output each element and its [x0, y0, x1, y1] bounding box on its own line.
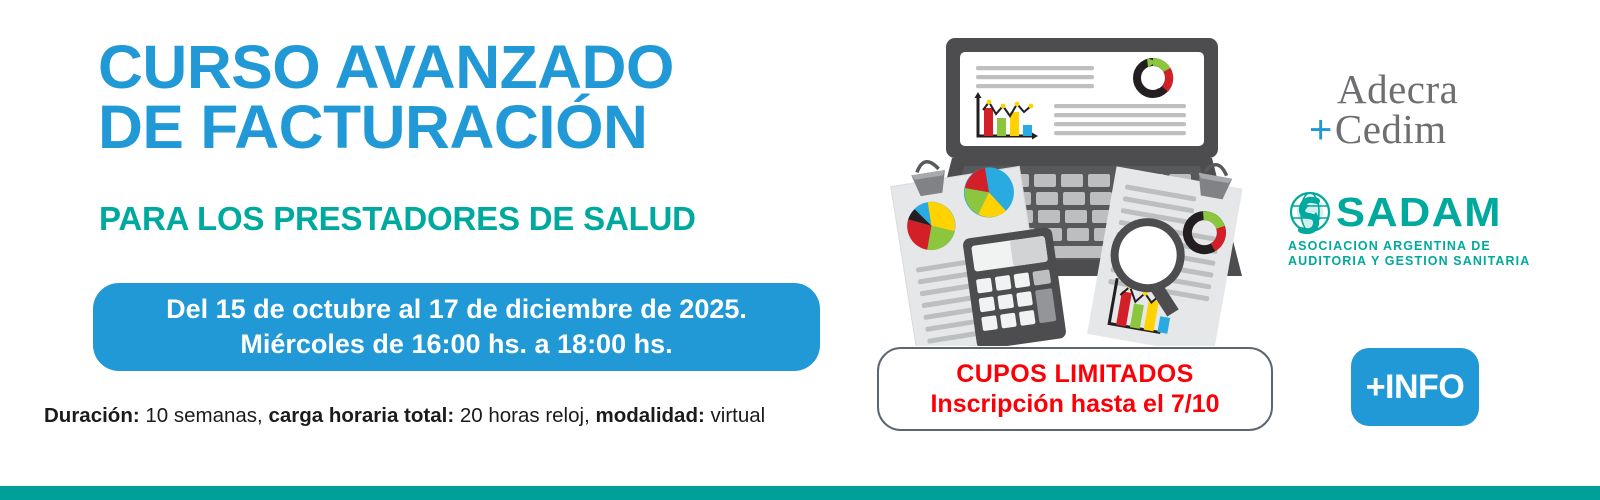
cupos-line-1: CUPOS LIMITADOS	[956, 359, 1193, 389]
limited-seats-notice: CUPOS LIMITADOS Inscripción hasta el 7/1…	[877, 347, 1273, 431]
sadam-globe-icon	[1288, 190, 1332, 234]
cupos-line-2: Inscripción hasta el 7/10	[930, 389, 1219, 419]
duration-label: Duración:	[44, 404, 140, 427]
modality-value: virtual	[705, 404, 765, 427]
bottom-accent-stripe	[0, 486, 1600, 500]
sadam-subtitle-line-2: AUDITORIA Y GESTION SANITARIA	[1288, 254, 1498, 269]
schedule-badge: Del 15 de octubre al 17 de diciembre de …	[93, 283, 820, 371]
laptop-lid-icon	[946, 38, 1218, 158]
schedule-time: Miércoles de 16:00 hs. a 18:00 hs.	[240, 327, 672, 362]
calculator-icon	[962, 227, 1067, 346]
sadam-subtitle: ASOCIACION ARGENTINA DE AUDITORIA Y GEST…	[1288, 239, 1498, 270]
page-title: CURSO AVANZADO DE FACTURACIÓN	[98, 38, 838, 158]
sadam-name: SADAM	[1336, 192, 1502, 233]
laptop-documents-illustration	[868, 34, 1258, 346]
course-details-line: Duración: 10 semanas, carga horaria tota…	[44, 404, 765, 428]
sadam-subtitle-line-1: ASOCIACION ARGENTINA DE	[1288, 239, 1498, 254]
workload-label: carga horaria total:	[268, 404, 454, 427]
modality-label: modalidad:	[595, 404, 704, 427]
cedim-row: +Cedim	[1309, 109, 1479, 150]
cedim-word: Cedim	[1335, 109, 1447, 150]
more-info-button[interactable]: +INFO	[1351, 348, 1479, 426]
sadam-logo: SADAM ASOCIACION ARGENTINA DE AUDITORIA …	[1288, 190, 1498, 270]
course-promo-banner: CURSO AVANZADO DE FACTURACIÓN PARA LOS P…	[0, 0, 1600, 500]
sadam-wordmark-row: SADAM	[1288, 190, 1498, 234]
left-text-block: CURSO AVANZADO DE FACTURACIÓN PARA LOS P…	[0, 0, 860, 460]
schedule-dates: Del 15 de octubre al 17 de diciembre de …	[166, 292, 747, 327]
plus-icon: +	[1309, 110, 1333, 150]
adecra-word: Adecra	[1309, 70, 1479, 109]
duration-value: 10 semanas,	[140, 404, 269, 427]
headline-line-1: CURSO AVANZADO	[98, 38, 853, 98]
headline-subtitle: PARA LOS PRESTADORES DE SALUD	[99, 200, 696, 238]
adecra-cedim-logo: Adecra +Cedim	[1309, 70, 1479, 150]
more-info-label: +INFO	[1366, 368, 1465, 407]
workload-value: 20 horas reloj,	[454, 404, 595, 427]
headline-line-2: DE FACTURACIÓN	[98, 98, 853, 158]
